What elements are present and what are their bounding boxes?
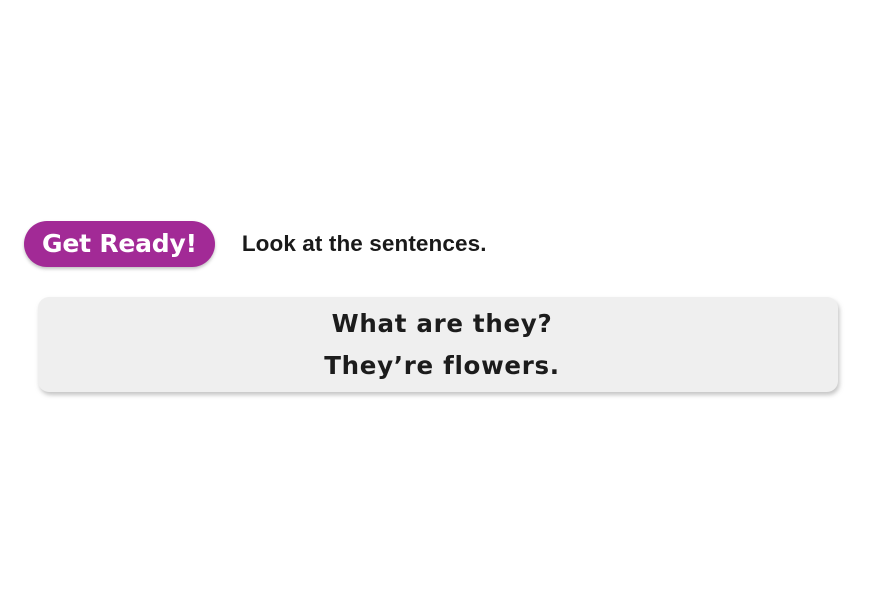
instruction-text: Look at the sentences.: [242, 233, 487, 256]
get-ready-badge[interactable]: Get Ready!: [24, 221, 215, 267]
sentence-panel: What are they? They’re flowers.: [38, 297, 838, 392]
get-ready-badge-label: Get Ready!: [42, 231, 197, 256]
sentence-list: What are they? They’re flowers.: [324, 303, 560, 387]
prompt-row: Get Ready! Look at the sentences.: [24, 221, 487, 267]
sentence-line-2: They’re flowers.: [324, 345, 560, 387]
worksheet-page: Get Ready! Look at the sentences. What a…: [0, 0, 873, 612]
sentence-line-1: What are they?: [332, 303, 553, 345]
